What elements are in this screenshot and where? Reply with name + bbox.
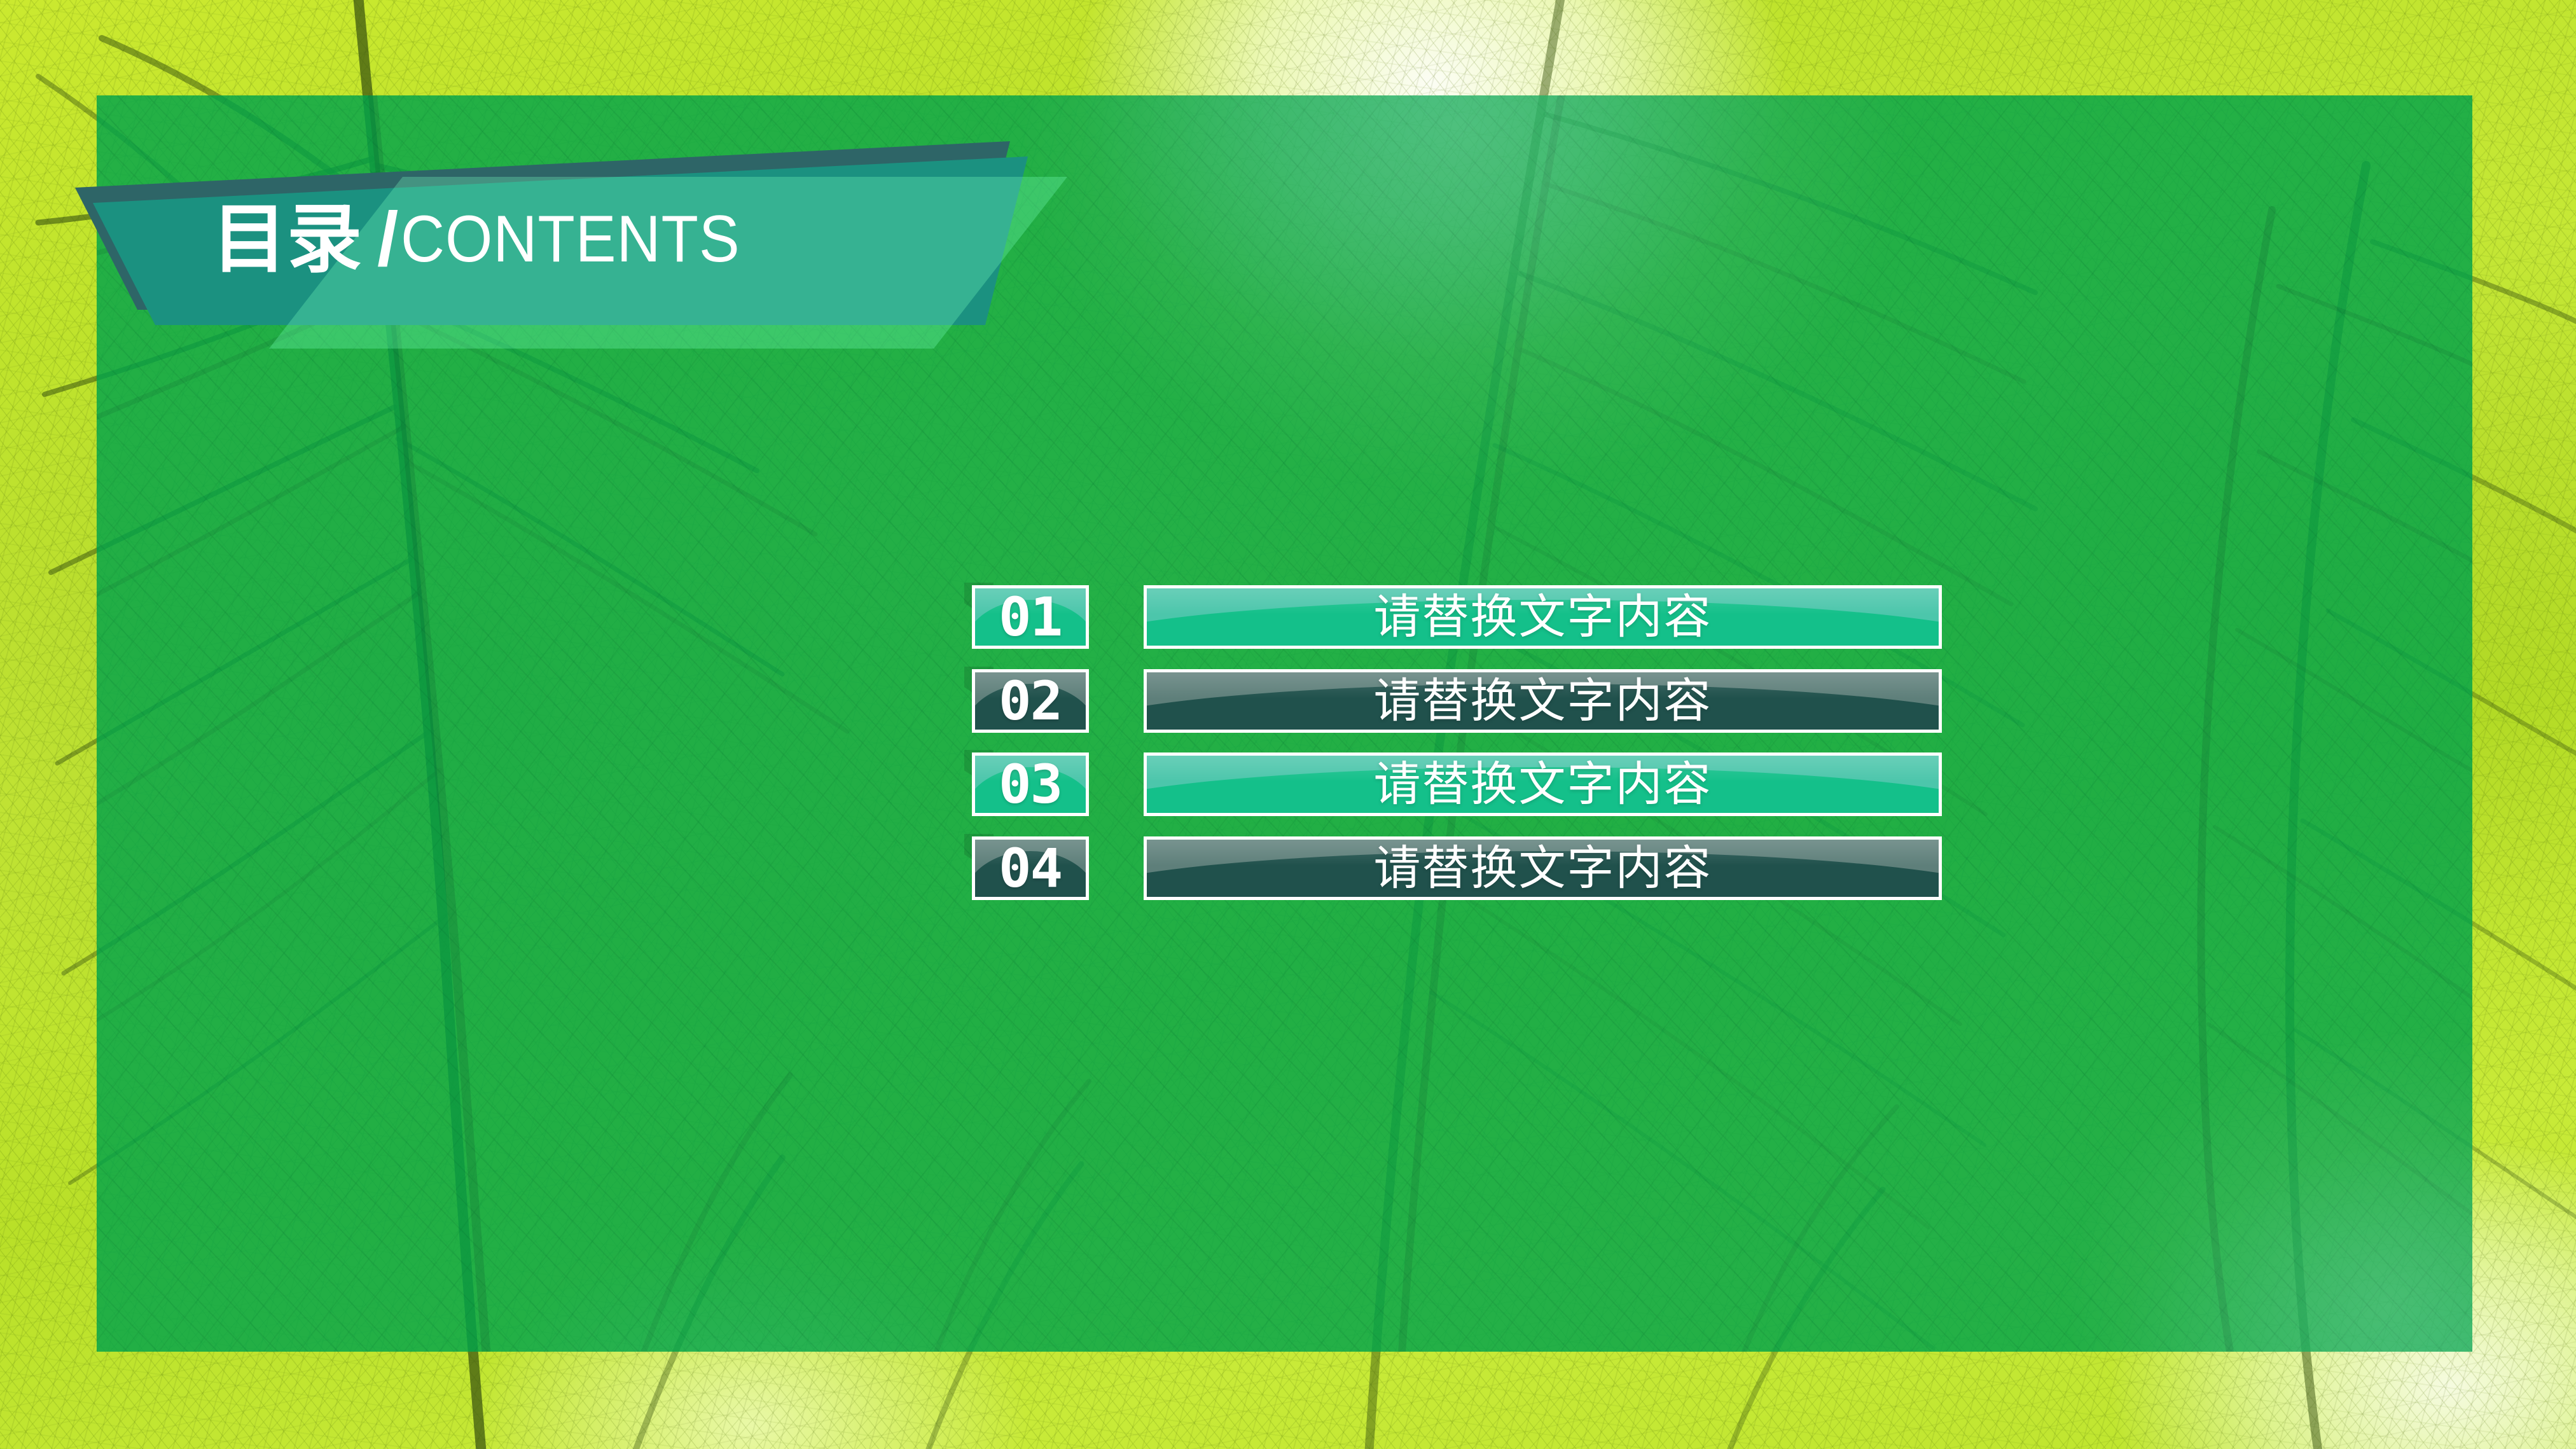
number-box-04[interactable]: 04: [972, 836, 1089, 900]
title-banner: 目录 / CONTENTS: [75, 141, 1067, 326]
list-item[interactable]: 04 请替换文字内容: [959, 828, 1942, 912]
page-title-english: CONTENTS: [401, 206, 740, 272]
list-item[interactable]: 01 请替换文字内容: [959, 576, 1942, 660]
number-label: 02: [999, 674, 1062, 728]
content-bar-01[interactable]: 请替换文字内容: [1144, 585, 1942, 649]
content-bar-02[interactable]: 请替换文字内容: [1144, 669, 1942, 733]
list-item[interactable]: 03 请替换文字内容: [959, 744, 1942, 828]
page-title-chinese: 目录: [212, 202, 362, 277]
number-label: 03: [999, 758, 1062, 811]
content-bar-label: 请替换文字内容: [1374, 677, 1712, 724]
content-bar-label: 请替换文字内容: [1374, 845, 1712, 892]
slide-canvas: 目录 / CONTENTS 01 请替换文字内容: [0, 0, 2576, 1449]
contents-list: 01 请替换文字内容 02 请替换文字内容: [959, 576, 1958, 1142]
content-bar-03[interactable]: 请替换文字内容: [1144, 752, 1942, 816]
number-box-01[interactable]: 01: [972, 585, 1089, 649]
content-bar-label: 请替换文字内容: [1374, 593, 1712, 641]
number-label: 04: [999, 842, 1062, 895]
content-bar-label: 请替换文字内容: [1374, 761, 1712, 808]
list-item[interactable]: 02 请替换文字内容: [959, 660, 1942, 744]
number-box-02[interactable]: 02: [972, 669, 1089, 733]
page-title-separator: /: [377, 201, 398, 277]
content-bar-04[interactable]: 请替换文字内容: [1144, 836, 1942, 900]
number-label: 01: [999, 590, 1062, 644]
page-title: 目录 / CONTENTS: [212, 188, 1058, 290]
number-box-03[interactable]: 03: [972, 752, 1089, 816]
